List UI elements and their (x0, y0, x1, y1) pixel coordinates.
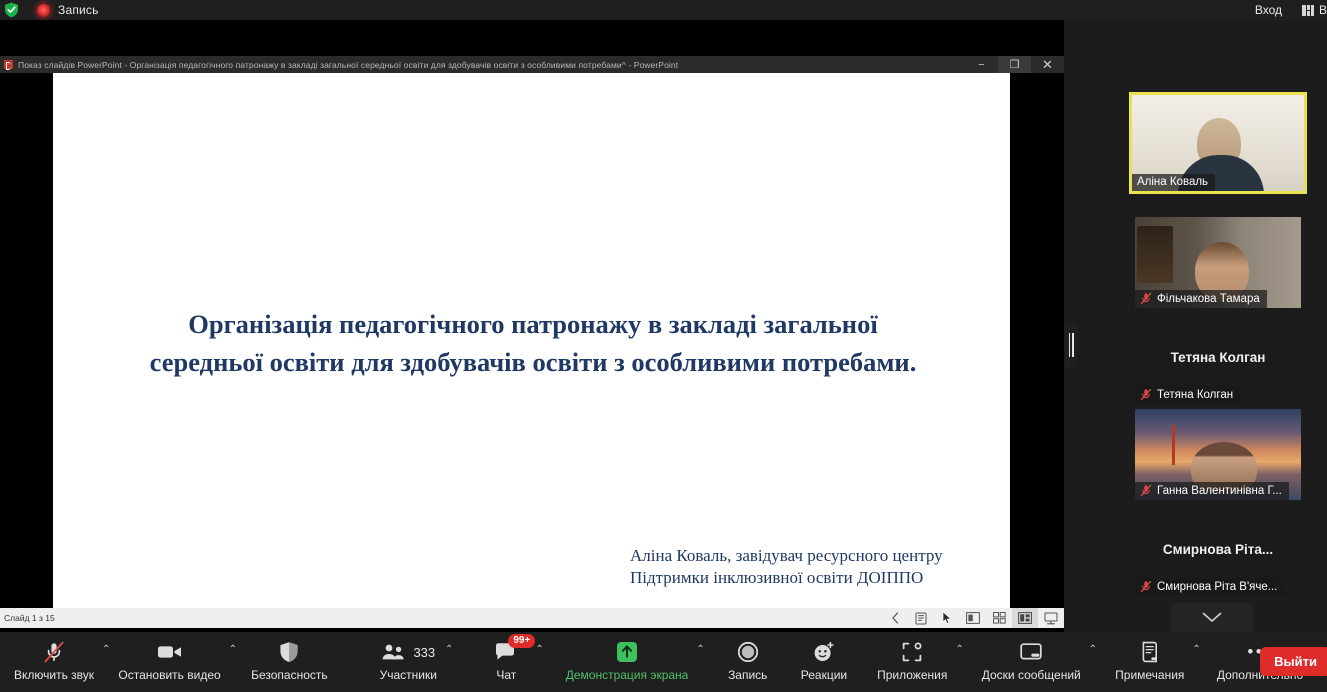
participants-button[interactable]: 333 Участники (374, 632, 443, 682)
chat-options-caret[interactable]: ⌃ (533, 644, 545, 655)
microphone-muted-icon (1140, 580, 1152, 593)
panel-drag-handle[interactable] (1065, 323, 1077, 367)
notes-options-caret[interactable]: ⌃ (1190, 644, 1202, 655)
presenter-view-icon[interactable] (1012, 608, 1038, 628)
slide-grid-icon[interactable] (986, 608, 1012, 628)
record-dot-icon (37, 4, 50, 17)
login-button[interactable]: Вход (1249, 1, 1288, 19)
whiteboard-icon (1019, 640, 1043, 664)
participant-name: Фільчакова Тамара (1157, 293, 1260, 305)
slide-canvas: Організація педагогічного патронажу в за… (53, 73, 1010, 608)
participants-icon: 333 (381, 640, 435, 664)
microphone-muted-icon (1140, 484, 1152, 497)
security-button[interactable]: Безопасность (245, 632, 334, 682)
whiteboards-label: Доски сообщений (982, 668, 1081, 682)
participant-name-badge: Смирнова Ріта В'яче... (1135, 578, 1284, 596)
chat-label: Чат (496, 668, 516, 682)
participants-strip: Аліна Коваль Фільчакова Тамара Тетяна Ко… (1129, 20, 1327, 632)
participant-name-badge: Ганна Валентинівна Г... (1135, 482, 1289, 500)
powerpoint-title: Показ слайдів PowerPoint - Організація п… (18, 60, 678, 70)
leave-meeting-button[interactable]: Выйти (1260, 647, 1327, 676)
stop-video-button[interactable]: Остановить видео (112, 632, 226, 682)
drag-grip-line (1069, 333, 1071, 357)
stop-video-label: Остановить видео (118, 668, 220, 682)
drag-grip-line (1072, 333, 1074, 357)
powerpoint-status-bar: Слайд 1 з 15 (0, 608, 1064, 628)
audio-options-caret[interactable]: ⌃ (100, 644, 112, 655)
view-button[interactable]: В (1302, 3, 1327, 17)
apps-label: Приложения (877, 668, 947, 682)
top-bar-right-group: Вход В (1249, 1, 1327, 19)
participant-name-badge: Тетяна Колган (1135, 386, 1240, 404)
participant-centered-name: Тетяна Колган (1135, 350, 1301, 365)
record-label: Запись (728, 668, 767, 682)
notes-button[interactable]: Примечания (1109, 632, 1190, 682)
participant-tile[interactable]: Фільчакова Тамара (1135, 217, 1301, 308)
previous-slide-icon[interactable] (882, 608, 908, 628)
apps-icon (901, 640, 923, 664)
participant-name-badge: Аліна Коваль (1132, 174, 1215, 191)
share-screen-icon (615, 640, 639, 664)
participant-tile[interactable]: Тетяна Колган Тетяна Колган (1135, 313, 1301, 404)
video-camera-icon (157, 640, 183, 664)
participant-name-badge: Фільчакова Тамара (1135, 290, 1267, 308)
security-label: Безопасность (251, 668, 328, 682)
chevron-down-icon (1202, 610, 1222, 628)
apps-button[interactable]: Приложения (871, 632, 953, 682)
slide-author-line2: Підтримки інклюзивної освіти ДОІППО (630, 567, 990, 589)
record-button[interactable]: Запись (721, 632, 775, 682)
view-label: В (1319, 3, 1327, 17)
meeting-toolbar: Включить звук ⌃ Остановить видео ⌃ (0, 632, 1327, 692)
participant-tile[interactable]: Аліна Коваль (1132, 95, 1304, 191)
share-options-caret[interactable]: ⌃ (694, 644, 706, 655)
top-status-bar: Запись Вход В (0, 0, 1327, 20)
participants-label: Участники (380, 668, 437, 682)
view-grid-icon (1302, 5, 1314, 16)
slide-counter: Слайд 1 з 15 (0, 613, 55, 623)
slide-title: Організація педагогічного патронажу в за… (133, 305, 933, 381)
microphone-muted-icon (1140, 388, 1152, 401)
microphone-muted-icon (42, 640, 66, 664)
recording-label: Запись (58, 3, 99, 17)
close-button[interactable]: ✕ (1031, 56, 1064, 73)
restore-button[interactable]: ❐ (998, 56, 1031, 73)
apps-options-caret[interactable]: ⌃ (953, 644, 965, 655)
chat-unread-badge: 99+ (508, 634, 535, 648)
participants-options-caret[interactable]: ⌃ (443, 644, 455, 655)
participant-tile[interactable]: Смирнова Ріта... Смирнова Ріта В'яче... (1135, 505, 1301, 596)
slide-author-line1: Аліна Коваль, завідувач ресурсного центр… (630, 545, 990, 567)
unmute-label: Включить звук (14, 668, 94, 682)
minimize-button[interactable]: − (965, 56, 998, 73)
reading-view-icon[interactable] (960, 608, 986, 628)
reactions-button[interactable]: Реакции (795, 632, 853, 682)
shared-screen-area: Показ слайдів PowerPoint - Організація п… (0, 20, 1064, 632)
notes-icon[interactable] (908, 608, 934, 628)
participant-name: Аліна Коваль (1137, 176, 1208, 188)
unmute-button[interactable]: Включить звук (8, 632, 100, 682)
powerpoint-title-bar: Показ слайдів PowerPoint - Організація п… (0, 56, 1064, 73)
recording-status-group: Запись (0, 2, 99, 18)
chat-button[interactable]: 99+ Чат (479, 632, 533, 682)
zoom-meeting-window: Запись Вход В Показ слайдів PowerPoint -… (0, 0, 1327, 692)
reactions-label: Реакции (801, 668, 847, 682)
video-options-caret[interactable]: ⌃ (227, 644, 239, 655)
shield-check-icon (4, 2, 19, 18)
reactions-smiley-icon (812, 640, 836, 664)
display-settings-icon[interactable] (1038, 608, 1064, 628)
slide-author-block: Аліна Коваль, завідувач ресурсного центр… (630, 545, 990, 589)
participant-name: Ганна Валентинівна Г... (1157, 485, 1282, 497)
participant-name: Смирнова Ріта В'яче... (1157, 581, 1277, 593)
share-screen-button[interactable]: Демонстрация экрана (560, 632, 695, 682)
slideshow-toolbar (882, 608, 1064, 628)
microphone-muted-icon (1140, 292, 1152, 305)
scroll-down-button[interactable] (1171, 603, 1253, 635)
pointer-cursor-icon[interactable] (934, 608, 960, 628)
whiteboards-button[interactable]: Доски сообщений (976, 632, 1087, 682)
participant-name: Тетяна Колган (1157, 389, 1233, 401)
powerpoint-icon (4, 60, 13, 69)
participants-count: 333 (413, 645, 435, 660)
window-controls: − ❐ ✕ (965, 56, 1064, 73)
whiteboards-options-caret[interactable]: ⌃ (1087, 644, 1099, 655)
participant-tile[interactable]: Ганна Валентинівна Г... (1135, 409, 1301, 500)
record-circle-icon (737, 640, 759, 664)
notes-label: Примечания (1115, 668, 1184, 682)
participant-centered-name: Смирнова Ріта... (1135, 542, 1301, 557)
share-screen-label: Демонстрация экрана (566, 668, 689, 682)
notes-icon (1140, 640, 1160, 664)
powerpoint-window: Показ слайдів PowerPoint - Організація п… (0, 56, 1064, 628)
shield-icon (279, 640, 299, 664)
